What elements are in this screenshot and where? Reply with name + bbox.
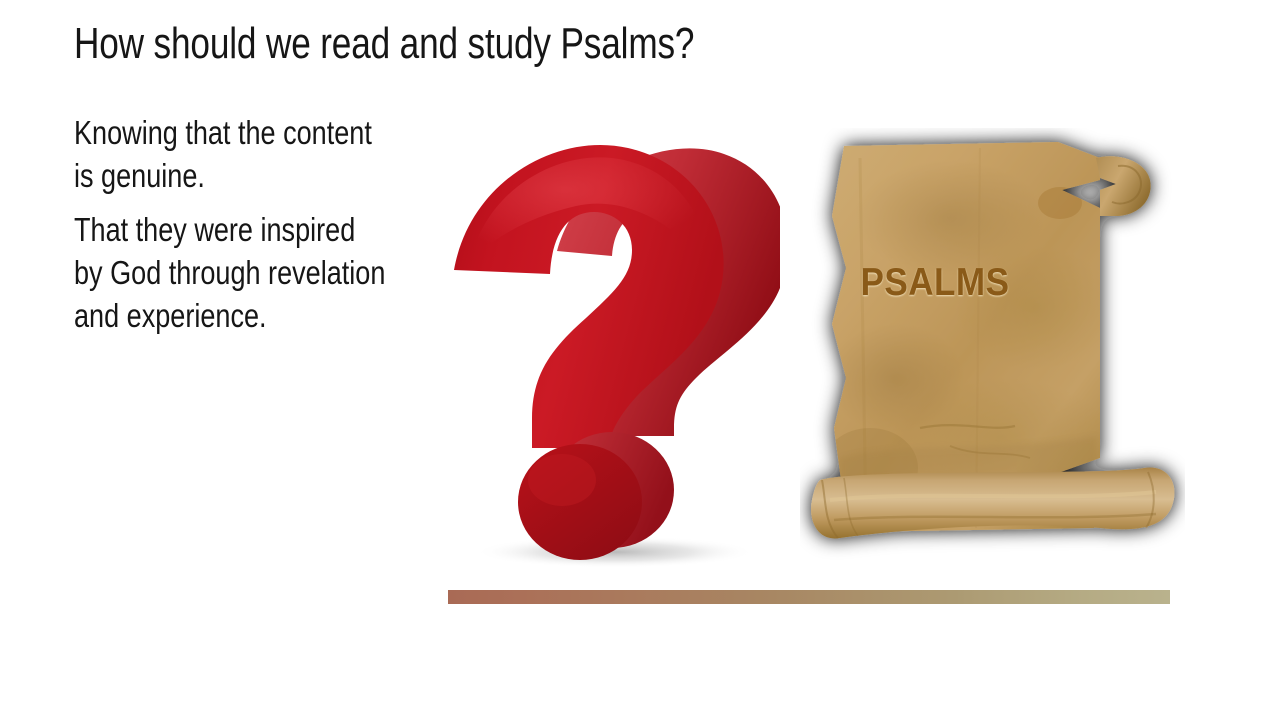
scroll-texture bbox=[822, 148, 1115, 528]
body-paragraph-2: That they were inspired by God through r… bbox=[74, 209, 459, 338]
question-mark-icon bbox=[440, 112, 780, 592]
bottom-accent-bar bbox=[448, 590, 1170, 604]
scroll-body bbox=[811, 142, 1174, 538]
question-mark-dot-highlight bbox=[528, 454, 596, 506]
slide-canvas: How should we read and study Psalms? Kno… bbox=[0, 0, 1280, 720]
body-paragraph-1: Knowing that the content is genuine. bbox=[74, 112, 459, 198]
page-title: How should we read and study Psalms? bbox=[74, 22, 954, 66]
scroll-image: PSALMS bbox=[800, 128, 1185, 583]
